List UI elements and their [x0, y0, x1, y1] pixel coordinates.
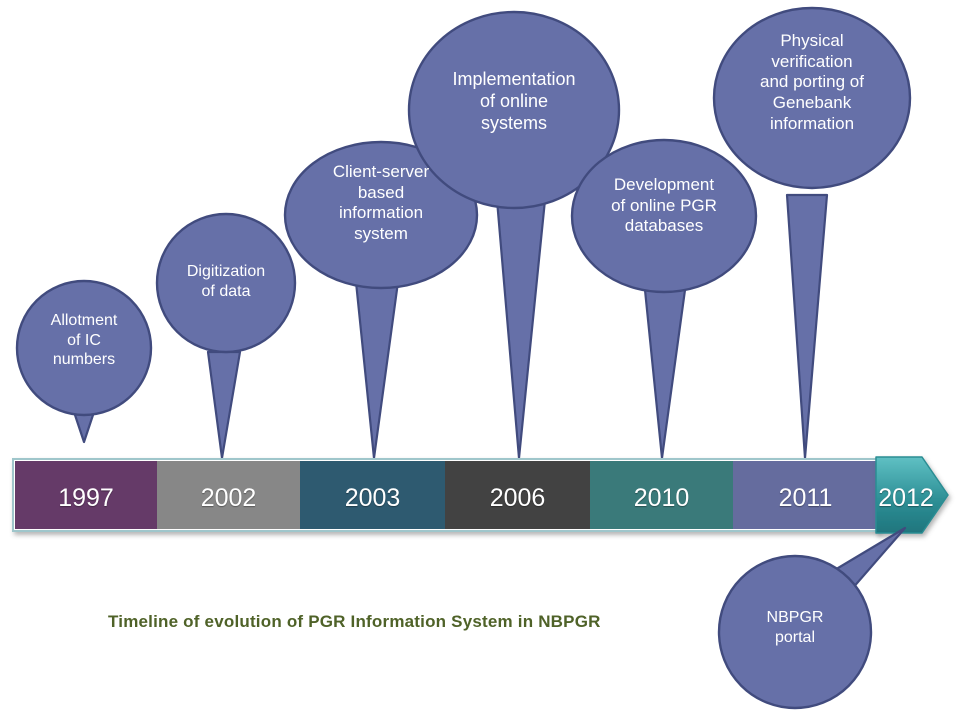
year-label-2012: 2012: [876, 486, 936, 511]
year-label-2006: 2006: [445, 486, 590, 511]
figure-caption: Timeline of evolution of PGR Information…: [108, 612, 601, 632]
year-label-2011: 2011: [733, 486, 878, 511]
callout-2012-shape[interactable]: [719, 528, 905, 708]
year-label-2003: 2003: [300, 486, 445, 511]
timeline-diagram: 1997 2002 2003 2006 2010 2011 2012 Allot…: [0, 0, 960, 720]
year-label-1997: 1997: [15, 486, 157, 511]
year-label-2002: 2002: [157, 486, 300, 511]
year-label-2010: 2010: [590, 486, 733, 511]
